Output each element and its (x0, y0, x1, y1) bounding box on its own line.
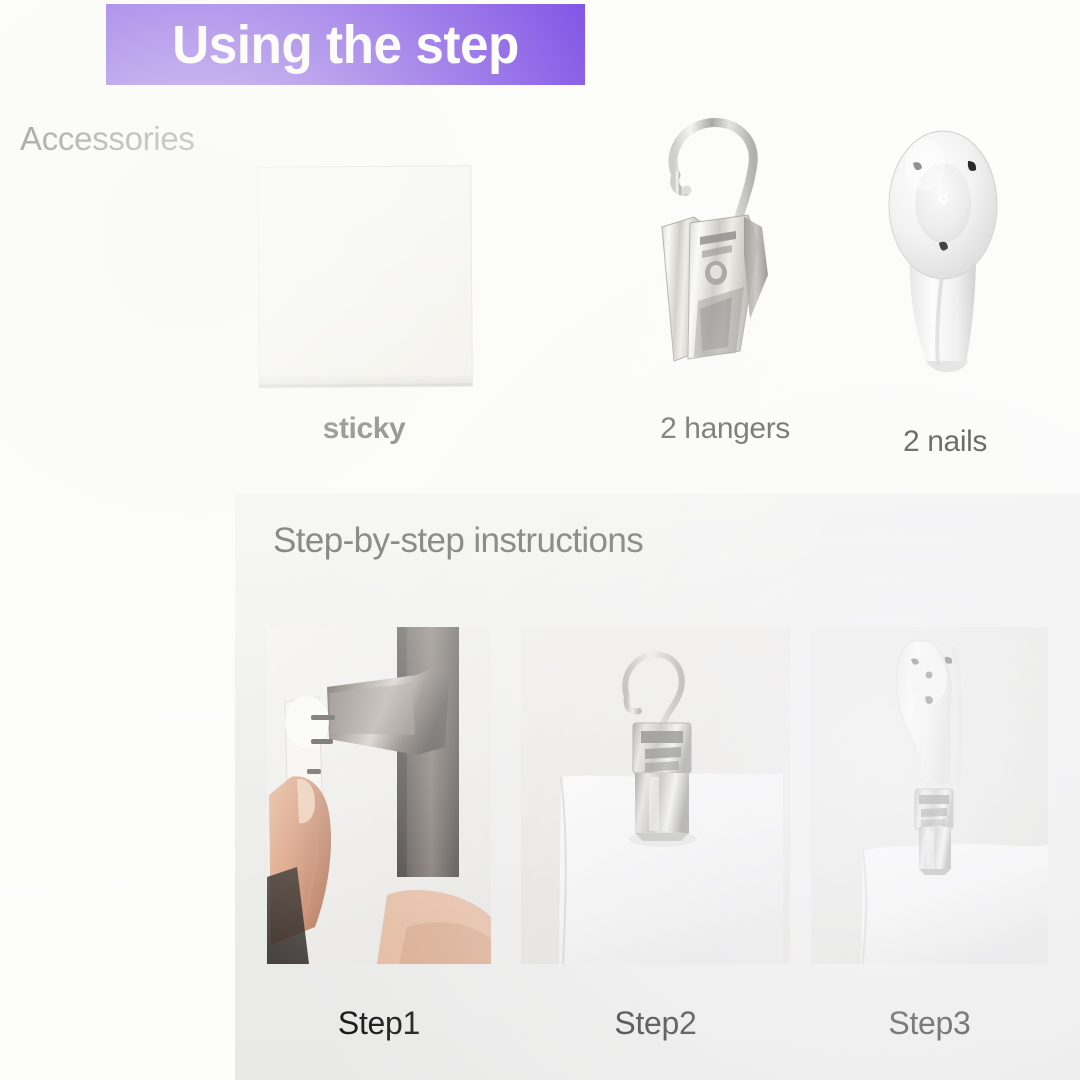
white-wall-hook-icon (880, 125, 1010, 400)
product-instruction-graphic: Using the step Accessories sticky (0, 0, 1080, 1080)
step-photo-2 (521, 627, 790, 964)
metal-hook-clip-icon (640, 105, 810, 395)
step-photo-grid (235, 494, 1080, 1080)
step-caption-2: Step2 (521, 1005, 790, 1042)
step-instructions-panel: Step-by-step instructions (235, 494, 1080, 1080)
step-photo-3 (811, 627, 1048, 964)
accessories-row: sticky (0, 0, 1080, 470)
accessory-item-hanger: 2 hangers (640, 105, 810, 395)
accessory-caption-sticky: sticky (258, 412, 470, 446)
adhesive-square-icon (257, 165, 473, 387)
accessory-caption-nail: 2 nails (845, 425, 1045, 459)
accessory-item-nail: 2 nails (880, 125, 1010, 400)
step-caption-3: Step3 (811, 1005, 1048, 1042)
accessory-caption-hanger: 2 hangers (615, 412, 835, 446)
step-photo-1 (267, 627, 491, 964)
step-caption-1: Step1 (267, 1005, 491, 1042)
